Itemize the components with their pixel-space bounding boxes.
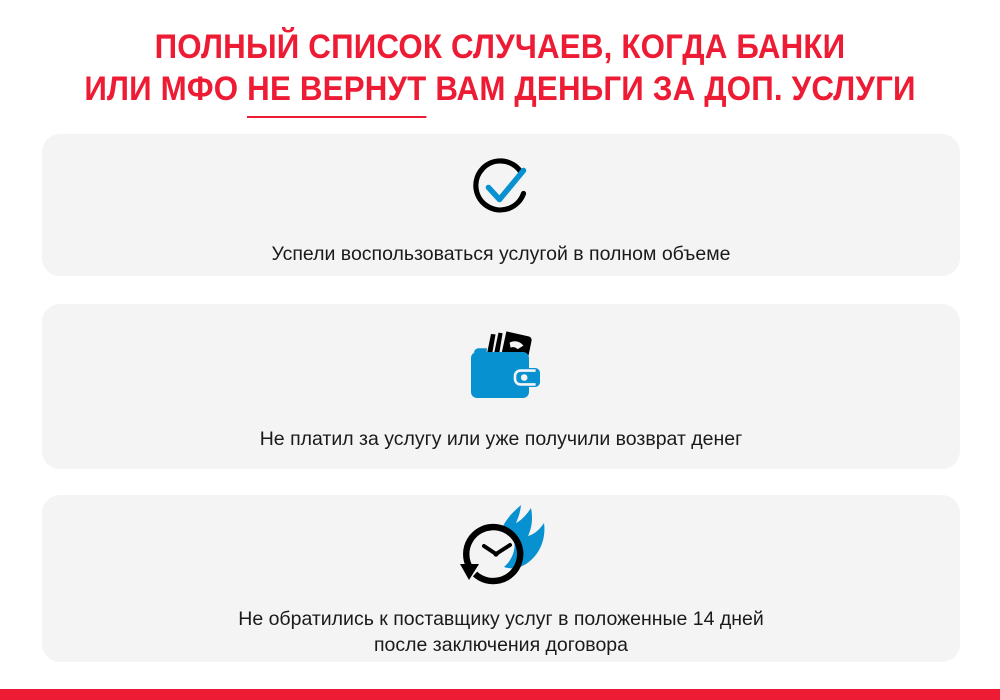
list-item: Успели воспользоваться услугой в полном … — [42, 134, 960, 276]
clock-flame-icon — [452, 504, 550, 590]
footer-accent-bar — [0, 689, 1000, 700]
list-item-text-line-1: Не обратились к поставщику услуг в полож… — [238, 608, 764, 630]
page-header: ПОЛНЫЙ СПИСОК СЛУЧАЕВ, КОГДА БАНКИ ИЛИ М… — [0, 0, 1000, 112]
cards-list: Успели воспользоваться услугой в полном … — [42, 134, 960, 662]
list-item-text-line-1: Успели воспользоваться услугой в полном … — [272, 243, 731, 265]
page-title-suffix: ВАМ ДЕНЬГИ ЗА ДОП. УСЛУГИ — [426, 70, 915, 108]
list-item-text-line-1: Не платил за услугу или уже получили воз… — [260, 428, 743, 450]
page-title-prefix: ИЛИ МФО — [84, 70, 247, 108]
page-title-line-1: ПОЛНЫЙ СПИСОК СЛУЧАЕВ, КОГДА БАНКИ — [40, 26, 960, 68]
list-item-text: Не платил за услугу или уже получили воз… — [260, 426, 743, 452]
wallet-money-icon — [460, 326, 542, 404]
list-item: Не обратились к поставщику услуг в полож… — [42, 495, 960, 662]
list-item-text-line-2: после заключения договора — [238, 632, 764, 658]
page-title-line-2: ИЛИ МФО НЕ ВЕРНУТ ВАМ ДЕНЬГИ ЗА ДОП. УСЛ… — [40, 68, 960, 112]
list-item: Не платил за услугу или уже получили воз… — [42, 304, 960, 469]
page-title-emphasis: НЕ ВЕРНУТ — [247, 68, 426, 112]
check-circle-icon — [463, 149, 539, 225]
list-item-text: Успели воспользоваться услугой в полном … — [272, 241, 731, 267]
list-item-text: Не обратились к поставщику услуг в полож… — [238, 606, 764, 658]
